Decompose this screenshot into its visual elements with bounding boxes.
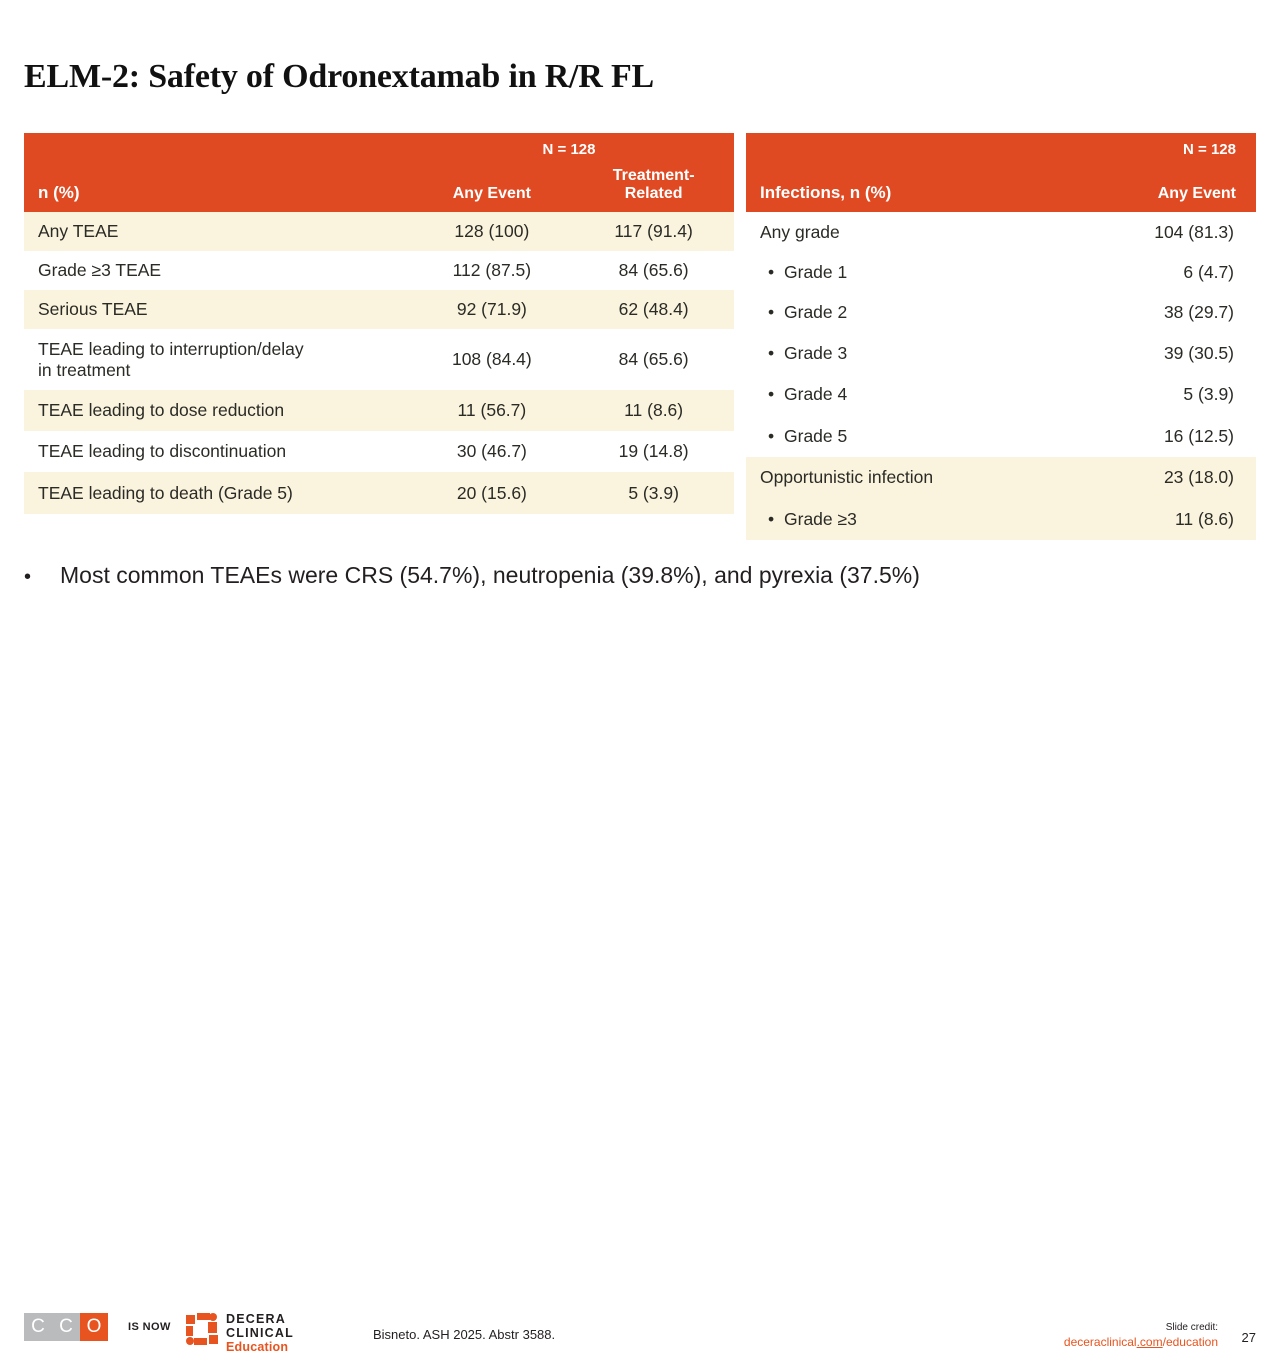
left-table-header: N = 128 n (%) Any Event Treatment- Relat… <box>24 133 734 212</box>
bullet-icon: • <box>24 561 60 587</box>
row-any-event: 128 (100) <box>411 221 574 242</box>
right-table-header: N = 128 Infections, n (%) Any Event <box>746 133 1256 212</box>
decera-logo-icon <box>186 1313 218 1345</box>
list-bullet-icon: • <box>768 384 784 405</box>
slide-credit-label: Slide credit: <box>1064 1322 1218 1335</box>
row-label-text: Grade 1 <box>784 262 847 282</box>
row-any-event: 6 (4.7) <box>1042 262 1256 283</box>
row-treatment-related: 11 (8.6) <box>573 400 734 421</box>
row-any-event: 23 (18.0) <box>1039 467 1256 488</box>
table-row: TEAE leading to death (Grade 5) 20 (15.6… <box>24 472 734 514</box>
credit-link-part3: /education <box>1163 1335 1218 1349</box>
table-row: •Grade ≥3 11 (8.6) <box>746 498 1256 540</box>
page-number: 27 <box>1242 1330 1256 1345</box>
table-row: TEAE leading to interruption/delay in tr… <box>24 329 734 390</box>
cco-letter-1: C <box>24 1313 52 1341</box>
decera-line-3: Education <box>226 1340 294 1354</box>
left-table-col-label: n (%) <box>24 183 411 203</box>
row-any-event: 30 (46.7) <box>411 441 574 462</box>
table-row: •Grade 3 39 (30.5) <box>746 333 1256 374</box>
row-any-event: 5 (3.9) <box>1042 384 1256 405</box>
decera-line-2: CLINICAL <box>226 1326 294 1340</box>
row-treatment-related: 19 (14.8) <box>573 441 734 462</box>
left-table-n-header: N = 128 <box>24 133 734 158</box>
row-any-event: 108 (84.4) <box>411 349 574 370</box>
list-bullet-icon: • <box>768 343 784 364</box>
table-row: TEAE leading to discontinuation 30 (46.7… <box>24 431 734 472</box>
row-label: Grade ≥3 TEAE <box>24 260 411 281</box>
right-table-n-header: N = 128 <box>746 133 1256 158</box>
cco-letter-2: C <box>52 1313 80 1341</box>
table-row: Any grade 104 (81.3) <box>746 212 1256 252</box>
cco-letter-3: O <box>80 1313 108 1341</box>
row-label: •Grade 4 <box>746 384 1042 405</box>
is-now-label: IS NOW <box>128 1321 171 1333</box>
table-row: Grade ≥3 TEAE 112 (87.5) 84 (65.6) <box>24 251 734 290</box>
right-table-col-label: Infections, n (%) <box>746 183 1040 203</box>
treatment-related-line1: Treatment- <box>573 167 734 185</box>
row-label: TEAE leading to death (Grade 5) <box>24 483 411 504</box>
row-label-text: Grade 3 <box>784 343 847 363</box>
row-label-text: Grade ≥3 <box>784 509 857 529</box>
cco-logo: C C O <box>24 1313 108 1341</box>
infections-table: N = 128 Infections, n (%) Any Event Any … <box>746 133 1256 540</box>
table-row: Any TEAE 128 (100) 117 (91.4) <box>24 212 734 251</box>
page-title: ELM-2: Safety of Odronextamab in R/R FL <box>24 58 654 96</box>
row-label-text: Grade 5 <box>784 426 847 446</box>
teae-summary-table: N = 128 n (%) Any Event Treatment- Relat… <box>24 133 734 514</box>
slide-credit-link[interactable]: deceraclinical.com/education <box>1064 1335 1218 1350</box>
row-label: Opportunistic infection <box>746 467 1039 488</box>
list-bullet-icon: • <box>768 302 784 323</box>
row-treatment-related: 62 (48.4) <box>573 299 734 320</box>
row-any-event: 92 (71.9) <box>411 299 574 320</box>
key-finding-bullet: • Most common TEAEs were CRS (54.7%), ne… <box>24 561 1254 590</box>
bullet-text: Most common TEAEs were CRS (54.7%), neut… <box>60 561 920 590</box>
credit-link-part2: .com <box>1137 1335 1163 1349</box>
table-row: •Grade 2 38 (29.7) <box>746 292 1256 333</box>
row-label: TEAE leading to interruption/delay in tr… <box>24 339 411 381</box>
list-bullet-icon: • <box>768 262 784 283</box>
slide-footer: C C O IS NOW DECERA CLINICAL Education B… <box>0 648 1280 720</box>
slide-credit: Slide credit: deceraclinical.com/educati… <box>1064 1322 1218 1350</box>
row-label-text: Grade 4 <box>784 384 847 404</box>
decera-line-1: DECERA <box>226 1312 294 1326</box>
treatment-related-line2: Related <box>573 185 734 203</box>
row-any-event: 11 (56.7) <box>411 400 574 421</box>
row-label-text: Grade 2 <box>784 302 847 322</box>
row-any-event: 38 (29.7) <box>1042 302 1256 323</box>
credit-link-part1: deceraclinical <box>1064 1335 1137 1349</box>
row-label-line1: TEAE leading to interruption/delay <box>38 339 411 360</box>
row-treatment-related: 84 (65.6) <box>573 260 734 281</box>
row-any-event: 16 (12.5) <box>1042 426 1256 447</box>
list-bullet-icon: • <box>768 426 784 447</box>
row-label: •Grade 3 <box>746 343 1042 364</box>
list-bullet-icon: • <box>768 509 784 530</box>
left-table-col-treatment-related: Treatment- Related <box>573 167 734 203</box>
row-label: Any grade <box>746 222 1039 243</box>
table-row: •Grade 1 6 (4.7) <box>746 252 1256 292</box>
row-label: Serious TEAE <box>24 299 411 320</box>
row-any-event: 112 (87.5) <box>411 260 574 281</box>
row-treatment-related: 84 (65.6) <box>573 349 734 370</box>
row-treatment-related: 117 (91.4) <box>573 221 734 242</box>
table-row: •Grade 4 5 (3.9) <box>746 374 1256 415</box>
row-any-event: 20 (15.6) <box>411 483 574 504</box>
table-row: •Grade 5 16 (12.5) <box>746 415 1256 457</box>
right-table-col-any-event: Any Event <box>1040 185 1256 203</box>
row-any-event: 11 (8.6) <box>1042 509 1256 530</box>
row-any-event: 39 (30.5) <box>1042 343 1256 364</box>
row-label: •Grade 1 <box>746 262 1042 283</box>
table-row: Serious TEAE 92 (71.9) 62 (48.4) <box>24 290 734 329</box>
table-row: TEAE leading to dose reduction 11 (56.7)… <box>24 390 734 431</box>
row-label: •Grade 2 <box>746 302 1042 323</box>
decera-wordmark: DECERA CLINICAL Education <box>226 1312 294 1354</box>
row-treatment-related: 5 (3.9) <box>573 483 734 504</box>
row-label: TEAE leading to dose reduction <box>24 400 411 421</box>
row-label: Any TEAE <box>24 221 411 242</box>
row-label: TEAE leading to discontinuation <box>24 441 411 462</box>
row-any-event: 104 (81.3) <box>1039 222 1256 243</box>
left-table-col-any-event: Any Event <box>411 185 574 203</box>
row-label: •Grade ≥3 <box>746 509 1042 530</box>
row-label-line2: in treatment <box>38 360 411 381</box>
citation-text: Bisneto. ASH 2025. Abstr 3588. <box>373 1327 555 1342</box>
row-label: •Grade 5 <box>746 426 1042 447</box>
table-row: Opportunistic infection 23 (18.0) <box>746 457 1256 498</box>
